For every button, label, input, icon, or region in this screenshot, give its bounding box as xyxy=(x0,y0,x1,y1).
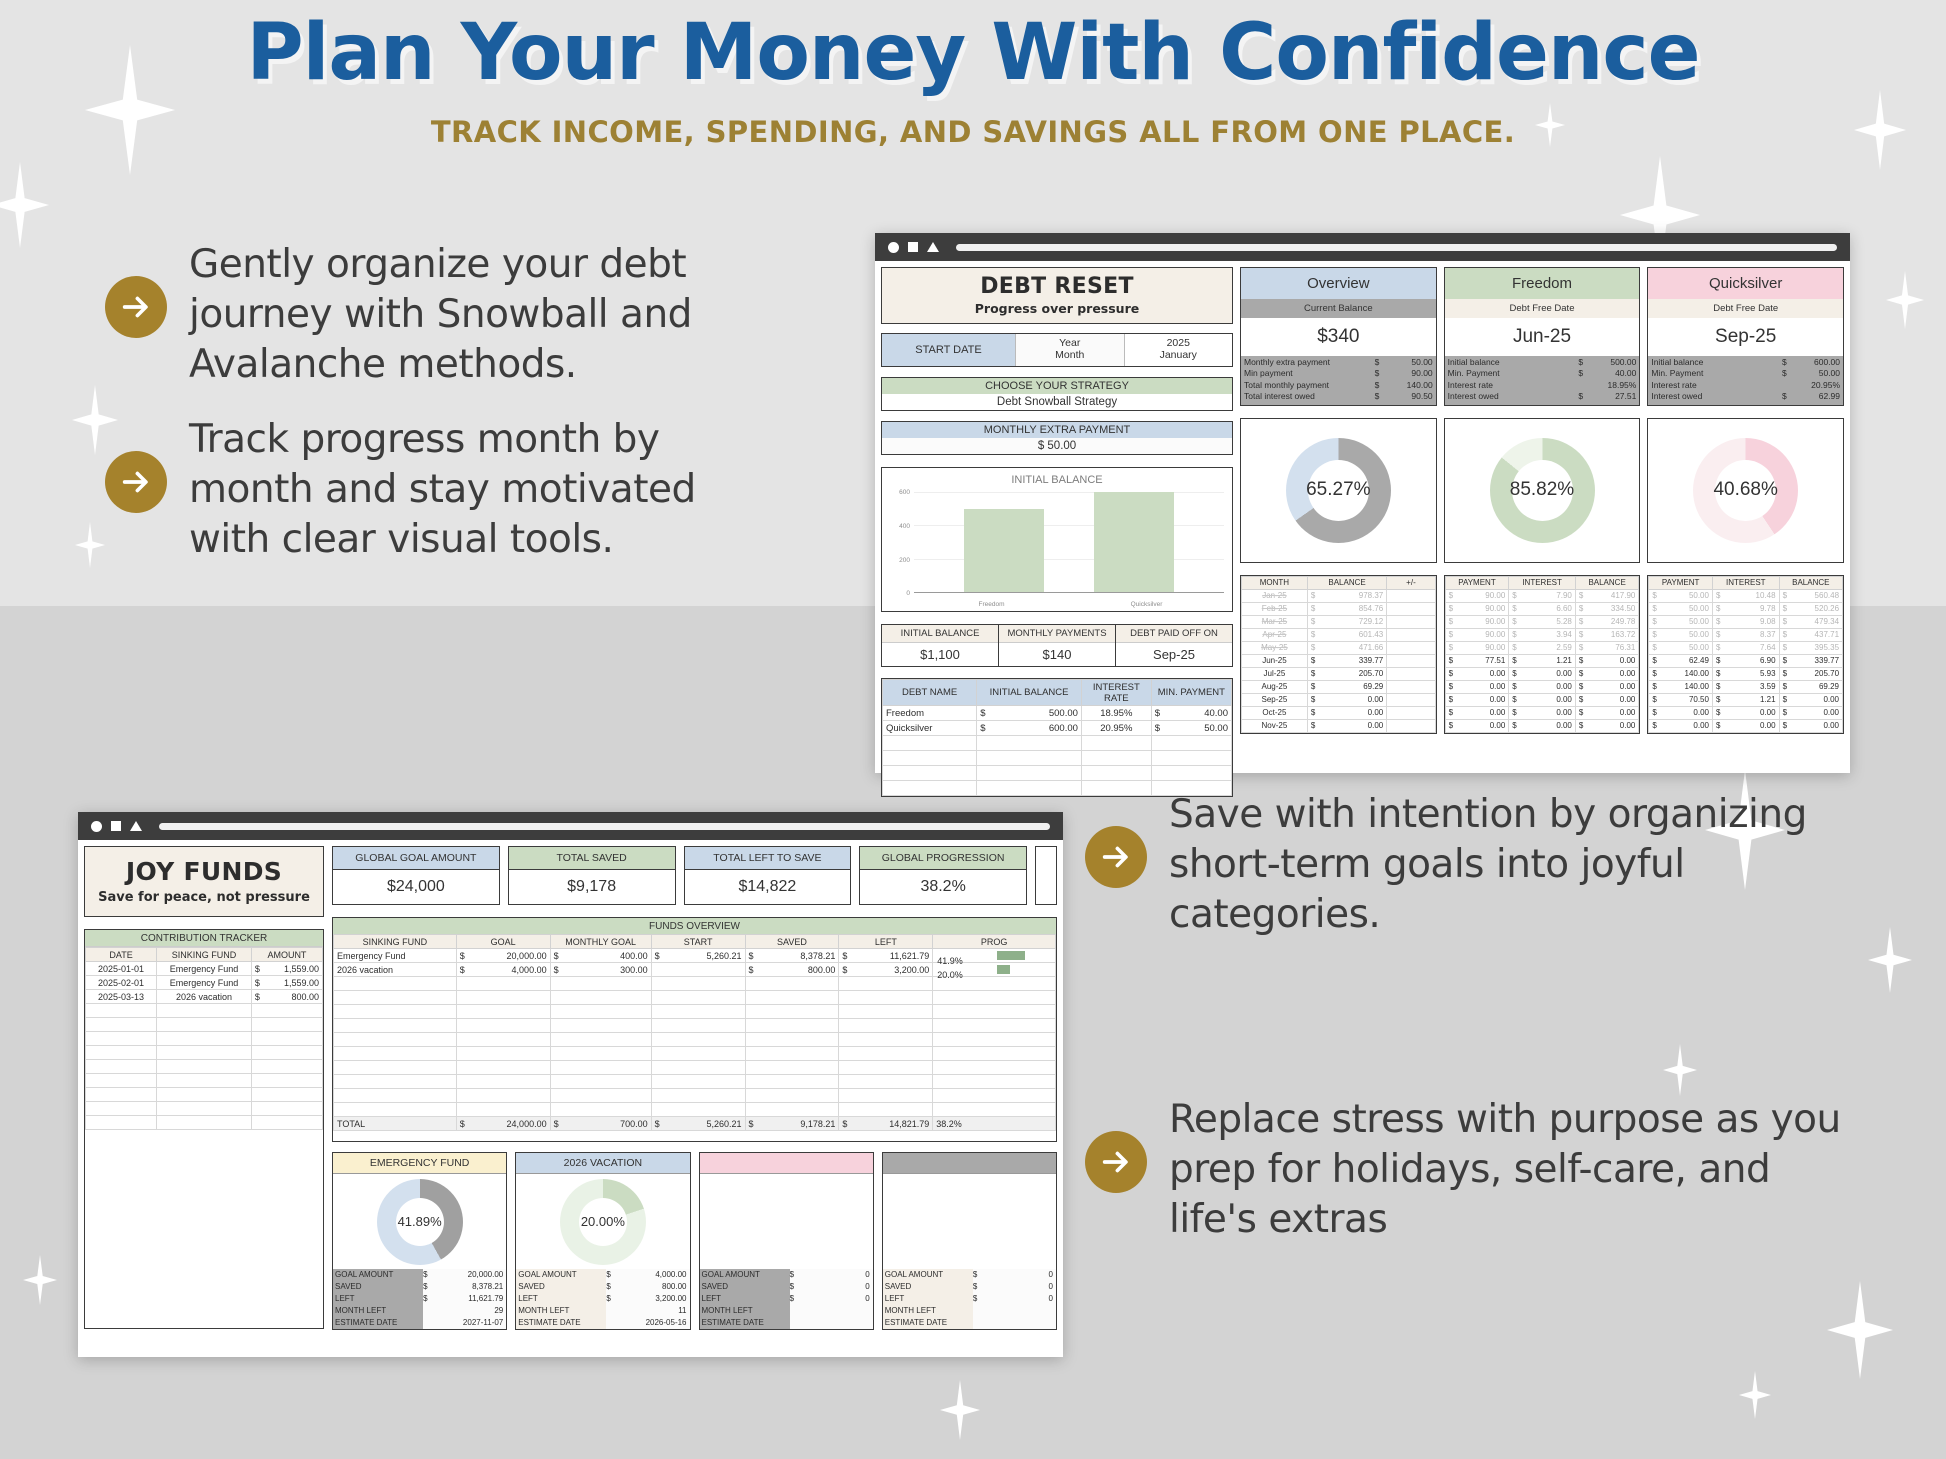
fund-detail-value: 800.00 xyxy=(629,1281,690,1293)
cell-balance: $471.66 xyxy=(1307,641,1386,654)
fund-detail-value: 11 xyxy=(629,1305,690,1317)
window-triangle-icon[interactable] xyxy=(927,242,939,252)
fund-detail-currency xyxy=(423,1305,446,1317)
cell-interest: $9.78 xyxy=(1712,602,1779,615)
month-value[interactable]: January xyxy=(1125,349,1233,361)
joy-sheet-title: JOY FUNDS xyxy=(85,857,323,886)
th-debt-name: DEBT NAME xyxy=(883,680,977,706)
table-row[interactable]: $77.51$1.21$0.00 xyxy=(1445,654,1639,667)
cell-balance: $417.90 xyxy=(1575,589,1638,602)
bar-quicksilver xyxy=(1094,492,1175,592)
joy-sheet-header: JOY FUNDS Save for peace, not pressure xyxy=(84,846,324,917)
fund-detail-label: ESTIMATE DATE xyxy=(516,1317,606,1329)
arrow-right-icon xyxy=(105,276,167,338)
detail-currency: $ xyxy=(1782,357,1794,368)
freedom-donut-value: 85.82% xyxy=(1510,479,1574,501)
cell-prog: 41.9% xyxy=(933,949,1056,963)
table-row-empty[interactable] xyxy=(883,751,1232,766)
extra-payment-block: MONTHLY EXTRA PAYMENT $ 50.00 xyxy=(881,421,1233,455)
fund-detail-row: MONTH LEFT xyxy=(700,1305,873,1317)
detail-row: Interest rate18.95% xyxy=(1448,380,1637,391)
th-amount: AMOUNT xyxy=(251,948,322,962)
cell-payment: $62.49 xyxy=(1649,654,1713,667)
table-row[interactable]: Emergency Fund$20,000.00$400.00$5,260.21… xyxy=(334,949,1056,963)
bullet-2-text: Track progress month by month and stay m… xyxy=(189,415,725,565)
cell-interest: $0.00 xyxy=(1509,680,1576,693)
table-row[interactable]: $0.00$0.00$0.00 xyxy=(1445,667,1639,680)
kpi-0-value: $24,000 xyxy=(333,870,499,904)
fund-detail-row: MONTH LEFT xyxy=(883,1305,1056,1317)
detail-currency: $ xyxy=(1375,391,1387,402)
debt-reset-window: DEBT RESET Progress over pressure START … xyxy=(875,233,1850,773)
cell-payment: $0.00 xyxy=(1445,680,1509,693)
cell-delta xyxy=(1387,615,1435,628)
cell-date: 2025-03-13 xyxy=(86,990,157,1004)
detail-label: Monthly extra payment xyxy=(1244,357,1375,368)
kpi-3-value: 38.2% xyxy=(860,870,1026,904)
table-row-empty[interactable] xyxy=(883,781,1232,796)
quicksilver-big-value: Sep-25 xyxy=(1648,318,1843,356)
th-interest-rate: INTEREST RATE xyxy=(1081,680,1151,706)
detail-value: 140.00 xyxy=(1387,380,1433,391)
address-bar[interactable] xyxy=(159,823,1050,830)
cell-balance: $0.00 xyxy=(1307,693,1386,706)
detail-currency xyxy=(1782,380,1794,391)
fund-detail-label: MONTH LEFT xyxy=(333,1305,423,1317)
fund-detail-currency: $ xyxy=(423,1281,446,1293)
fund-card-0: EMERGENCY FUND41.89%GOAL AMOUNT$20,000.0… xyxy=(332,1152,507,1330)
fund-detail-row: GOAL AMOUNT$4,000.00 xyxy=(516,1269,689,1281)
th-initial-balance: INITIAL BALANCE xyxy=(977,680,1082,706)
table-row-empty[interactable] xyxy=(334,1033,1056,1047)
window-square-icon[interactable] xyxy=(908,242,918,252)
page-subtitle: TRACK INCOME, SPENDING, AND SAVINGS ALL … xyxy=(0,115,1946,149)
funds-overview: FUNDS OVERVIEW SINKING FUND GOAL MONTHLY… xyxy=(332,917,1057,1142)
arrow-right-icon xyxy=(105,451,167,513)
th-f-interest: INTEREST xyxy=(1509,576,1576,589)
th-o-saved: SAVED xyxy=(745,935,839,949)
summary-value-0: $1,100 xyxy=(882,643,998,666)
cell-delta xyxy=(1387,693,1435,706)
table-row-empty[interactable] xyxy=(334,1089,1056,1103)
table-row[interactable]: $50.00$7.64$395.35 xyxy=(1649,641,1843,654)
fund-detail-value: 3,200.00 xyxy=(629,1293,690,1305)
cell-month: Jul-25 xyxy=(1242,667,1308,680)
y-tick-200: 200 xyxy=(899,557,910,564)
fund-detail-currency: $ xyxy=(790,1269,813,1281)
cell-payment: $0.00 xyxy=(1445,706,1509,719)
detail-label: Min payment xyxy=(1244,368,1375,379)
detail-label: Total interest owed xyxy=(1244,391,1375,402)
fund-detail-label: SAVED xyxy=(333,1281,423,1293)
cell-interest: $10.48 xyxy=(1712,589,1779,602)
fund-detail-value: 0 xyxy=(812,1269,873,1281)
fund-detail-value: 0 xyxy=(812,1281,873,1293)
fund-detail-currency: $ xyxy=(606,1281,629,1293)
fund-detail-label: ESTIMATE DATE xyxy=(700,1317,790,1329)
fund-card-1: 2026 VACATION20.00%GOAL AMOUNT$4,000.00S… xyxy=(515,1152,690,1330)
detail-currency: $ xyxy=(1578,391,1590,402)
table-row[interactable]: $0.00$0.00$0.00 xyxy=(1445,693,1639,706)
table-row[interactable]: $90.00$6.60$334.50 xyxy=(1445,602,1639,615)
joy-kpi-strip: GLOBAL GOAL AMOUNT $24,000 TOTAL SAVED $… xyxy=(332,846,1057,905)
window-circle-icon[interactable] xyxy=(91,821,102,832)
table-row[interactable]: $0.00$0.00$0.00 xyxy=(1445,706,1639,719)
fund-donut-value: 41.89% xyxy=(398,1214,442,1229)
quicksilver-schedule-table: PAYMENT INTEREST BALANCE $50.00$10.48$56… xyxy=(1647,575,1844,734)
fund-detail-row: ESTIMATE DATE2026-05-16 xyxy=(516,1317,689,1329)
cell-interest: $1.21 xyxy=(1509,654,1576,667)
cell-month: Sep-25 xyxy=(1242,693,1308,706)
overview-sub-label: Current Balance xyxy=(1241,299,1436,318)
th-o-prog: PROG xyxy=(933,935,1056,949)
cell-balance: $205.70 xyxy=(1307,667,1386,680)
cell-interest: $0.00 xyxy=(1712,706,1779,719)
cell-balance: $249.78 xyxy=(1575,615,1638,628)
cell-amount: $1,559.00 xyxy=(251,976,322,990)
cell-balance: $0.00 xyxy=(1779,719,1842,732)
kpi-overflow xyxy=(1035,846,1057,905)
cell-monthly: $300.00 xyxy=(550,963,651,977)
cell-delta xyxy=(1387,667,1435,680)
strategy-label: CHOOSE YOUR STRATEGY xyxy=(882,378,1232,394)
detail-label: Min. Payment xyxy=(1651,368,1782,379)
table-row[interactable]: Freedom$500.0018.95%$40.00 xyxy=(883,706,1232,721)
fund-detail-label: LEFT xyxy=(700,1293,790,1305)
table-row-empty[interactable] xyxy=(86,1060,323,1074)
quicksilver-card: Quicksilver Debt Free Date Sep-25 Initia… xyxy=(1647,267,1844,406)
window-square-icon[interactable] xyxy=(111,821,121,831)
th-date: DATE xyxy=(86,948,157,962)
cell-balance: $0.00 xyxy=(1779,706,1842,719)
detail-row: Total interest owed$90.50 xyxy=(1244,391,1433,402)
th-o-start: START xyxy=(651,935,745,949)
table-row-empty[interactable] xyxy=(86,1004,323,1018)
cell-fund: Emergency Fund xyxy=(157,976,252,990)
fund-detail-label: GOAL AMOUNT xyxy=(700,1269,790,1281)
cell-payment: $140.00 xyxy=(1649,680,1713,693)
freedom-detail-rows: Initial balance$500.00Min. Payment$40.00… xyxy=(1445,356,1640,405)
cell-goal: $20,000.00 xyxy=(456,949,550,963)
cell-fund: Emergency Fund xyxy=(157,962,252,976)
year-value[interactable]: 2025 xyxy=(1125,337,1233,349)
cell-balance: $0.00 xyxy=(1779,693,1842,706)
fund-card-title xyxy=(883,1153,1056,1174)
fund-detail-row: ESTIMATE DATE xyxy=(883,1317,1056,1329)
cell-total-goal: $24,000.00 xyxy=(456,1117,550,1131)
table-row[interactable]: Nov-25$0.00 xyxy=(1242,719,1436,732)
debt-sheet-header: DEBT RESET Progress over pressure xyxy=(881,267,1233,324)
detail-label: Total monthly payment xyxy=(1244,380,1375,391)
quicksilver-donut-card: 40.68% xyxy=(1647,418,1844,563)
detail-row: Initial balance$500.00 xyxy=(1448,357,1637,368)
detail-currency: $ xyxy=(1375,368,1387,379)
table-row[interactable]: Aug-25$69.29 xyxy=(1242,680,1436,693)
y-tick-0: 0 xyxy=(906,590,910,597)
cell-start xyxy=(651,963,745,977)
fund-card-title xyxy=(700,1153,873,1174)
detail-label: Interest owed xyxy=(1651,391,1782,402)
cell-amount: $800.00 xyxy=(251,990,322,1004)
cell-payment: $50.00 xyxy=(1649,589,1713,602)
table-row-empty[interactable] xyxy=(86,1018,323,1032)
fund-detail-label: GOAL AMOUNT xyxy=(516,1269,606,1281)
cell-payment: $90.00 xyxy=(1445,628,1509,641)
fund-detail-value xyxy=(995,1317,1056,1329)
detail-row: Min payment$90.00 xyxy=(1244,368,1433,379)
cell-fund: Emergency Fund xyxy=(334,949,457,963)
th-q-interest: INTEREST xyxy=(1712,576,1779,589)
fund-detail-row: SAVED$8,378.21 xyxy=(333,1281,506,1293)
table-row[interactable]: $0.00$0.00$0.00 xyxy=(1649,706,1843,719)
fund-detail-value: 2026-05-16 xyxy=(629,1317,690,1329)
table-row[interactable]: Quicksilver$600.0020.95%$50.00 xyxy=(883,721,1232,736)
detail-label: Interest rate xyxy=(1651,380,1782,391)
strategy-value[interactable]: Debt Snowball Strategy xyxy=(882,394,1232,410)
quicksilver-card-title: Quicksilver xyxy=(1648,268,1843,299)
table-row[interactable]: $140.00$5.93$205.70 xyxy=(1649,667,1843,680)
cell-delta xyxy=(1387,628,1435,641)
kpi-2-label: TOTAL LEFT TO SAVE xyxy=(685,847,851,870)
detail-value: 27.51 xyxy=(1590,391,1636,402)
table-row[interactable]: Feb-25$854.76 xyxy=(1242,602,1436,615)
cell-balance: $500.00 xyxy=(977,706,1082,721)
cell-interest: $1.21 xyxy=(1712,693,1779,706)
fund-detail-value: 0 xyxy=(812,1293,873,1305)
table-row[interactable]: 2025-02-01Emergency Fund$1,559.00 xyxy=(86,976,323,990)
cell-interest: $5.93 xyxy=(1712,667,1779,680)
start-date-row: START DATE Year Month 2025 January xyxy=(881,333,1233,367)
table-row-empty[interactable] xyxy=(86,1102,323,1116)
kpi-2-value: $14,822 xyxy=(685,870,851,904)
cell-amount: $1,559.00 xyxy=(251,962,322,976)
cell-payment: $90.00 xyxy=(1445,615,1509,628)
summary-label-1: MONTHLY PAYMENTS xyxy=(999,625,1115,643)
table-row[interactable]: $90.00$3.94$163.72 xyxy=(1445,628,1639,641)
detail-value: 90.50 xyxy=(1387,391,1433,402)
table-row-empty[interactable] xyxy=(334,1075,1056,1089)
table-row[interactable]: $62.49$6.90$339.77 xyxy=(1649,654,1843,667)
fund-detail-value xyxy=(812,1305,873,1317)
table-row-empty[interactable] xyxy=(334,1047,1056,1061)
table-row[interactable]: Jul-25$205.70 xyxy=(1242,667,1436,680)
freedom-big-value: Jun-25 xyxy=(1445,318,1640,356)
fund-card-3: GOAL AMOUNT$0SAVED$0LEFT$0MONTH LEFTESTI… xyxy=(882,1152,1057,1330)
table-row-empty[interactable] xyxy=(334,1103,1056,1117)
detail-currency: $ xyxy=(1578,368,1590,379)
detail-row: Initial balance$600.00 xyxy=(1651,357,1840,368)
cell-balance: $520.26 xyxy=(1779,602,1842,615)
cell-balance: $69.29 xyxy=(1779,680,1842,693)
detail-row: Min. Payment$40.00 xyxy=(1448,368,1637,379)
cell-balance: $339.77 xyxy=(1307,654,1386,667)
arrow-right-icon xyxy=(1085,826,1147,888)
cell-balance: $0.00 xyxy=(1575,706,1638,719)
cell-balance: $334.50 xyxy=(1575,602,1638,615)
bullet-2: Track progress month by month and stay m… xyxy=(105,415,725,565)
fund-detail-value: 0 xyxy=(995,1269,1056,1281)
fund-detail-label: ESTIMATE DATE xyxy=(333,1317,423,1329)
th-sinking-fund: SINKING FUND xyxy=(157,948,252,962)
cell-interest: $3.94 xyxy=(1509,628,1576,641)
table-row-empty[interactable] xyxy=(334,991,1056,1005)
table-row-empty[interactable] xyxy=(86,1116,323,1130)
fund-detail-label: MONTH LEFT xyxy=(700,1305,790,1317)
arrow-right-icon xyxy=(1085,1131,1147,1193)
table-row-empty[interactable] xyxy=(334,1061,1056,1075)
kpi-1-value: $9,178 xyxy=(509,870,675,904)
fund-detail-value: 8,378.21 xyxy=(446,1281,507,1293)
kpi-3-label: GLOBAL PROGRESSION xyxy=(860,847,1026,870)
fund-detail-value: 0 xyxy=(995,1281,1056,1293)
table-row[interactable]: Mar-25$729.12 xyxy=(1242,615,1436,628)
overview-donut: 65.27% xyxy=(1286,438,1391,543)
cell-payment: $90.00 xyxy=(1445,641,1509,654)
cell-monthly: $400.00 xyxy=(550,949,651,963)
kpi-0-label: GLOBAL GOAL AMOUNT xyxy=(333,847,499,870)
joy-window-titlebar xyxy=(78,812,1063,840)
fund-detail-currency xyxy=(606,1317,629,1329)
freedom-schedule-table: PAYMENT INTEREST BALANCE $90.00$7.90$417… xyxy=(1444,575,1641,734)
extra-payment-value[interactable]: $ 50.00 xyxy=(882,438,1232,454)
detail-label: Initial balance xyxy=(1651,357,1782,368)
table-row[interactable]: $0.00$0.00$0.00 xyxy=(1445,719,1639,732)
cell-payment: $0.00 xyxy=(1445,693,1509,706)
cell-delta xyxy=(1387,680,1435,693)
cell-interest: $6.90 xyxy=(1712,654,1779,667)
year-label: Year xyxy=(1016,337,1124,349)
fund-card-2: GOAL AMOUNT$0SAVED$0LEFT$0MONTH LEFTESTI… xyxy=(699,1152,874,1330)
table-row-empty[interactable] xyxy=(86,1046,323,1060)
cell-balance: $0.00 xyxy=(1575,654,1638,667)
window-circle-icon[interactable] xyxy=(888,242,899,253)
freedom-sub-label: Debt Free Date xyxy=(1445,299,1640,318)
table-row[interactable]: $50.00$9.78$520.26 xyxy=(1649,602,1843,615)
fund-detail-row: LEFT$11,621.79 xyxy=(333,1293,506,1305)
table-row[interactable]: Sep-25$0.00 xyxy=(1242,693,1436,706)
table-row[interactable]: 2025-03-132026 vacation$800.00 xyxy=(86,990,323,1004)
cell-balance: $479.34 xyxy=(1779,615,1842,628)
detail-value: 90.00 xyxy=(1387,368,1433,379)
chart-title: INITIAL BALANCE xyxy=(890,474,1224,486)
table-row-empty[interactable] xyxy=(334,1019,1056,1033)
cell-interest: $5.28 xyxy=(1509,615,1576,628)
table-row[interactable]: $0.00$0.00$0.00 xyxy=(1649,719,1843,732)
freedom-card-title: Freedom xyxy=(1445,268,1640,299)
y-tick-600: 600 xyxy=(899,489,910,496)
table-row[interactable]: $90.00$2.59$76.31 xyxy=(1445,641,1639,654)
cell-fund: 2026 vacation xyxy=(334,963,457,977)
cell-balance: $163.72 xyxy=(1575,628,1638,641)
table-row[interactable]: $140.00$3.59$69.29 xyxy=(1649,680,1843,693)
freedom-column: Freedom Debt Free Date Jun-25 Initial ba… xyxy=(1444,267,1641,797)
kpi-1-label: TOTAL SAVED xyxy=(509,847,675,870)
quicksilver-sub-label: Debt Free Date xyxy=(1648,299,1843,318)
cell-interest: $0.00 xyxy=(1509,719,1576,732)
table-row-empty[interactable] xyxy=(883,766,1232,781)
table-row[interactable]: 2026 vacation$4,000.00$300.00$800.00$3,2… xyxy=(334,963,1056,977)
table-row[interactable]: Jun-25$339.77 xyxy=(1242,654,1436,667)
freedom-card: Freedom Debt Free Date Jun-25 Initial ba… xyxy=(1444,267,1641,406)
fund-donut: 20.00% xyxy=(560,1179,646,1265)
fund-detail-value: 0 xyxy=(995,1293,1056,1305)
tracker-title: CONTRIBUTION TRACKER xyxy=(85,930,323,947)
debt-sheet-title: DEBT RESET xyxy=(882,274,1232,299)
table-row[interactable]: 2025-01-01Emergency Fund$1,559.00 xyxy=(86,962,323,976)
initial-balance-chart: INITIAL BALANCE 600 400 200 0 xyxy=(881,467,1233,612)
table-row-empty[interactable] xyxy=(86,1074,323,1088)
cell-interest: $3.59 xyxy=(1712,680,1779,693)
detail-label: Min. Payment xyxy=(1448,368,1579,379)
fund-detail-currency xyxy=(973,1305,996,1317)
table-row[interactable]: $50.00$8.37$437.71 xyxy=(1649,628,1843,641)
cell-interest: $6.60 xyxy=(1509,602,1576,615)
window-triangle-icon[interactable] xyxy=(130,821,142,831)
cell-saved: $800.00 xyxy=(745,963,839,977)
overview-donut-card: 65.27% xyxy=(1240,418,1437,563)
table-row[interactable]: $50.00$9.08$479.34 xyxy=(1649,615,1843,628)
cell-interest: $2.59 xyxy=(1509,641,1576,654)
cell-month: Oct-25 xyxy=(1242,706,1308,719)
fund-detail-value xyxy=(995,1305,1056,1317)
table-row-empty[interactable] xyxy=(86,1088,323,1102)
fund-detail-row: LEFT$3,200.00 xyxy=(516,1293,689,1305)
cell-payment: $50.00 xyxy=(1649,641,1713,654)
detail-currency: $ xyxy=(1782,391,1794,402)
cell-interest: $0.00 xyxy=(1509,693,1576,706)
detail-value: 600.00 xyxy=(1794,357,1840,368)
detail-value: 62.99 xyxy=(1794,391,1840,402)
cell-total-label: TOTAL xyxy=(334,1117,457,1131)
fund-card-title: EMERGENCY FUND xyxy=(333,1153,506,1174)
table-row[interactable]: Oct-25$0.00 xyxy=(1242,706,1436,719)
cell-month: Jan-25 xyxy=(1242,589,1308,602)
table-row-empty[interactable] xyxy=(86,1032,323,1046)
address-bar[interactable] xyxy=(956,244,1837,251)
table-row[interactable]: $70.50$1.21$0.00 xyxy=(1649,693,1843,706)
cell-month: Apr-25 xyxy=(1242,628,1308,641)
fund-detail-currency: $ xyxy=(423,1269,446,1281)
fund-detail-row: SAVED$0 xyxy=(700,1281,873,1293)
table-row[interactable]: $0.00$0.00$0.00 xyxy=(1445,680,1639,693)
th-q-payment: PAYMENT xyxy=(1649,576,1713,589)
table-row[interactable]: $90.00$5.28$249.78 xyxy=(1445,615,1639,628)
kpi-global-progression: GLOBAL PROGRESSION 38.2% xyxy=(859,846,1027,905)
detail-label: Initial balance xyxy=(1448,357,1579,368)
fund-donut-wrap: 20.00% xyxy=(516,1174,689,1269)
table-row[interactable]: May-25$471.66 xyxy=(1242,641,1436,654)
fund-detail-row: GOAL AMOUNT$0 xyxy=(883,1269,1056,1281)
cell-balance: $0.00 xyxy=(1575,680,1638,693)
month-label: Month xyxy=(1016,349,1124,361)
cell-delta xyxy=(1387,589,1435,602)
table-row[interactable]: Apr-25$601.43 xyxy=(1242,628,1436,641)
detail-currency xyxy=(1578,380,1590,391)
cell-date: 2025-02-01 xyxy=(86,976,157,990)
table-row[interactable]: $50.00$10.48$560.48 xyxy=(1649,589,1843,602)
cell-balance: $205.70 xyxy=(1779,667,1842,680)
table-row[interactable]: Jan-25$978.37 xyxy=(1242,589,1436,602)
overview-column: Overview Current Balance $340 Monthly ex… xyxy=(1240,267,1437,797)
fund-detail-label: MONTH LEFT xyxy=(516,1305,606,1317)
table-row-empty[interactable] xyxy=(883,736,1232,751)
cell-payment: $77.51 xyxy=(1445,654,1509,667)
table-row-empty[interactable] xyxy=(334,1005,1056,1019)
th-o-monthly: MONTHLY GOAL xyxy=(550,935,651,949)
table-row[interactable]: $90.00$7.90$417.90 xyxy=(1445,589,1639,602)
detail-value: 50.00 xyxy=(1794,368,1840,379)
window-titlebar xyxy=(875,233,1850,261)
